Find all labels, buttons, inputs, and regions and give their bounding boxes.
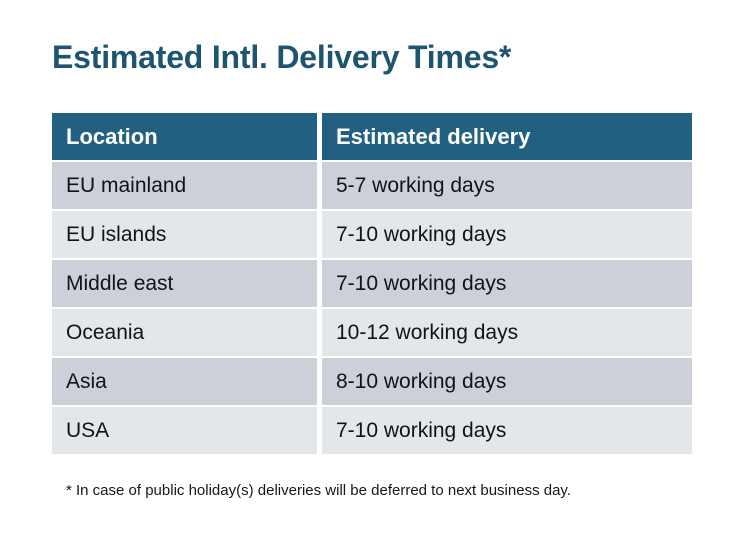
cell-estimated-delivery: 7-10 working days: [322, 211, 692, 258]
table-row: Middle east 7-10 working days: [52, 260, 692, 307]
cell-location: Middle east: [52, 260, 317, 307]
column-header-location: Location: [52, 113, 317, 160]
column-header-estimated-delivery: Estimated delivery: [322, 113, 692, 160]
cell-estimated-delivery: 8-10 working days: [322, 358, 692, 405]
cell-estimated-delivery: 7-10 working days: [322, 260, 692, 307]
table-row: Oceania 10-12 working days: [52, 309, 692, 356]
table-row: Asia 8-10 working days: [52, 358, 692, 405]
page-title: Estimated Intl. Delivery Times*: [52, 36, 712, 78]
table-header-row: Location Estimated delivery: [52, 113, 692, 160]
table-row: EU mainland 5-7 working days: [52, 162, 692, 209]
table-row: USA 7-10 working days: [52, 407, 692, 454]
cell-location: Asia: [52, 358, 317, 405]
delivery-times-table: Location Estimated delivery EU mainland …: [52, 113, 692, 454]
cell-location: EU mainland: [52, 162, 317, 209]
cell-location: Oceania: [52, 309, 317, 356]
cell-estimated-delivery: 10-12 working days: [322, 309, 692, 356]
delivery-times-page: Estimated Intl. Delivery Times* Location…: [0, 0, 745, 536]
cell-location: USA: [52, 407, 317, 454]
cell-location: EU islands: [52, 211, 317, 258]
table-row: EU islands 7-10 working days: [52, 211, 692, 258]
cell-estimated-delivery: 7-10 working days: [322, 407, 692, 454]
footnote-text: * In case of public holiday(s) deliverie…: [66, 480, 706, 501]
cell-estimated-delivery: 5-7 working days: [322, 162, 692, 209]
